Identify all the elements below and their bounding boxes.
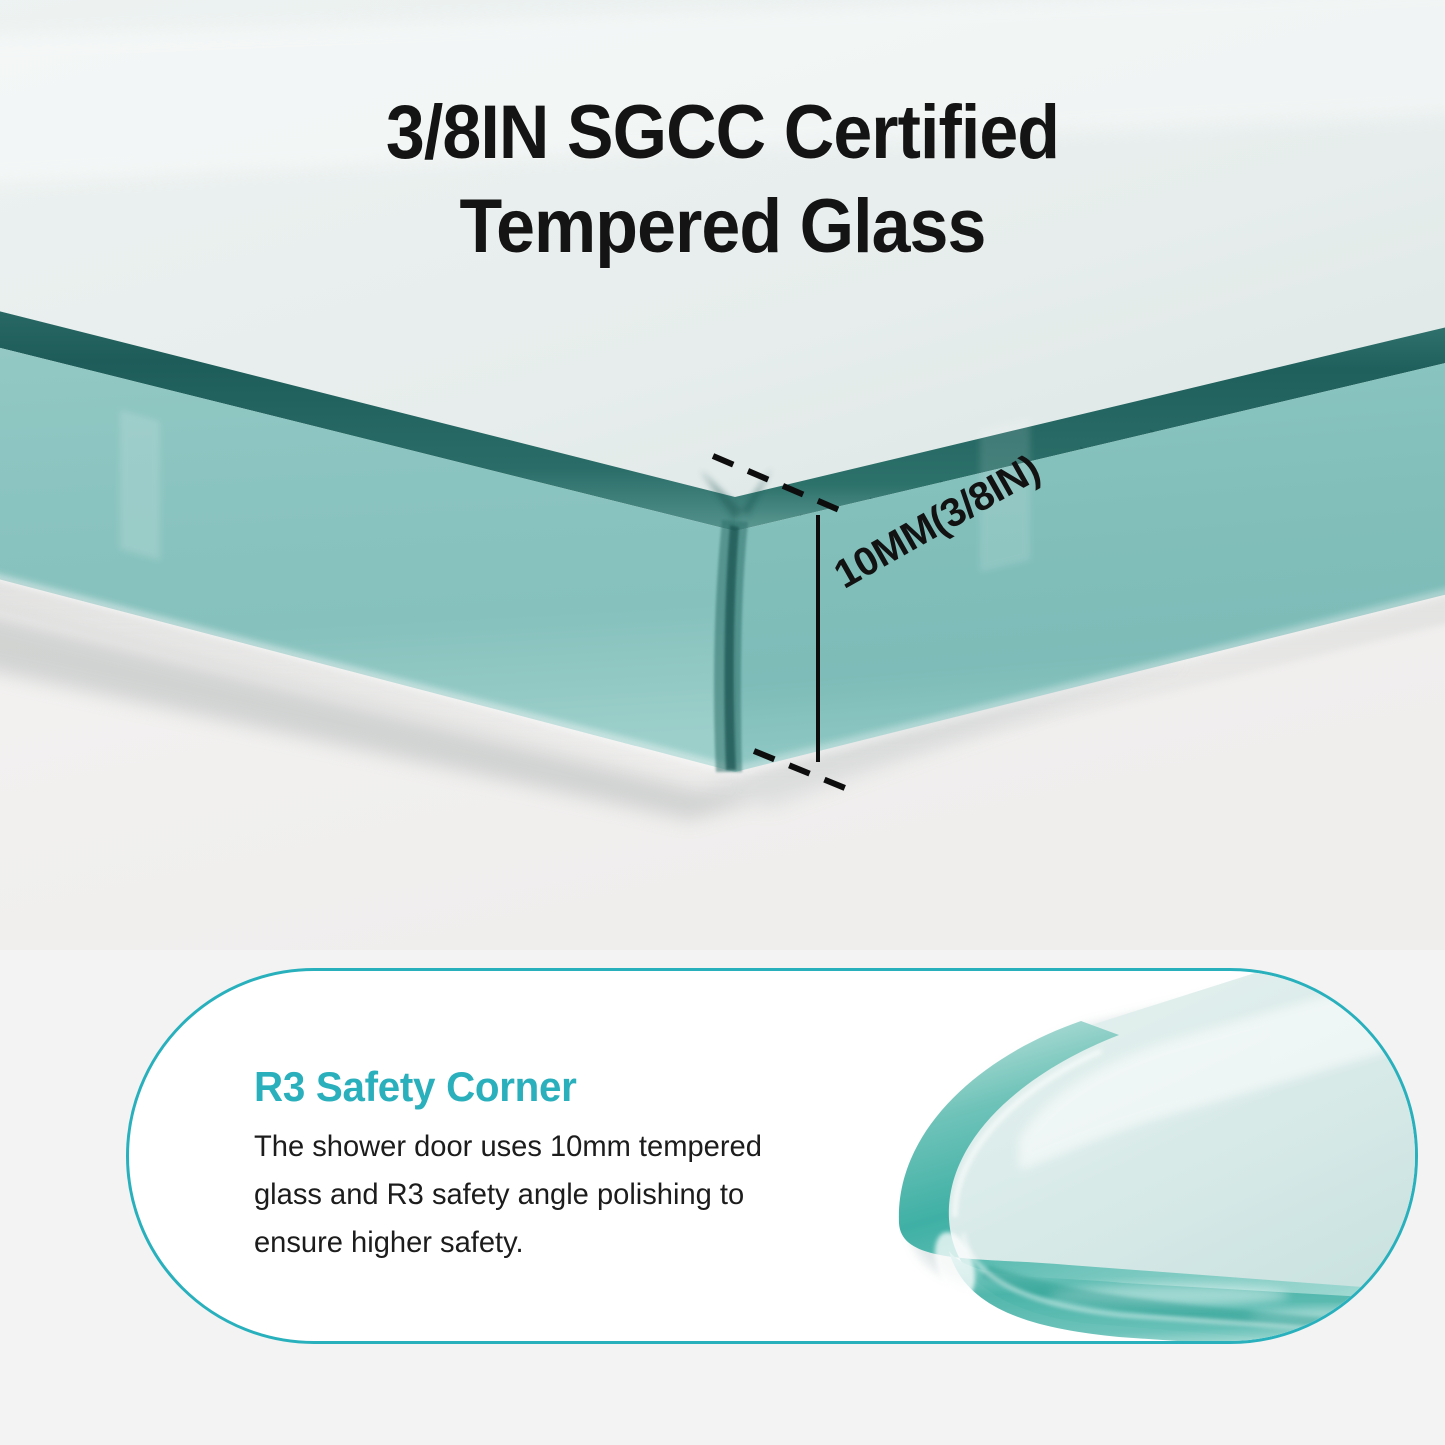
page-title: 3/8IN SGCC Certified Tempered Glass	[58, 86, 1387, 274]
rounded-glass-corner-photo	[869, 968, 1418, 1344]
card-body-line-3: ensure higher safety.	[254, 1219, 797, 1267]
headline-line-1: 3/8IN SGCC Certified	[386, 90, 1059, 175]
card-body-line-2: glass and R3 safety angle polishing to	[254, 1171, 797, 1219]
card-title: R3 Safety Corner	[254, 1063, 577, 1111]
card-body: The shower door uses 10mm tempered glass…	[254, 1123, 797, 1267]
headline-line-2: Tempered Glass	[58, 180, 1387, 274]
product-infographic: 3/8IN SGCC Certified Tempered Glass 10MM…	[0, 0, 1445, 1445]
r3-safety-corner-card: R3 Safety Corner The shower door uses 10…	[126, 968, 1418, 1344]
card-body-line-1: The shower door uses 10mm tempered	[254, 1123, 797, 1171]
